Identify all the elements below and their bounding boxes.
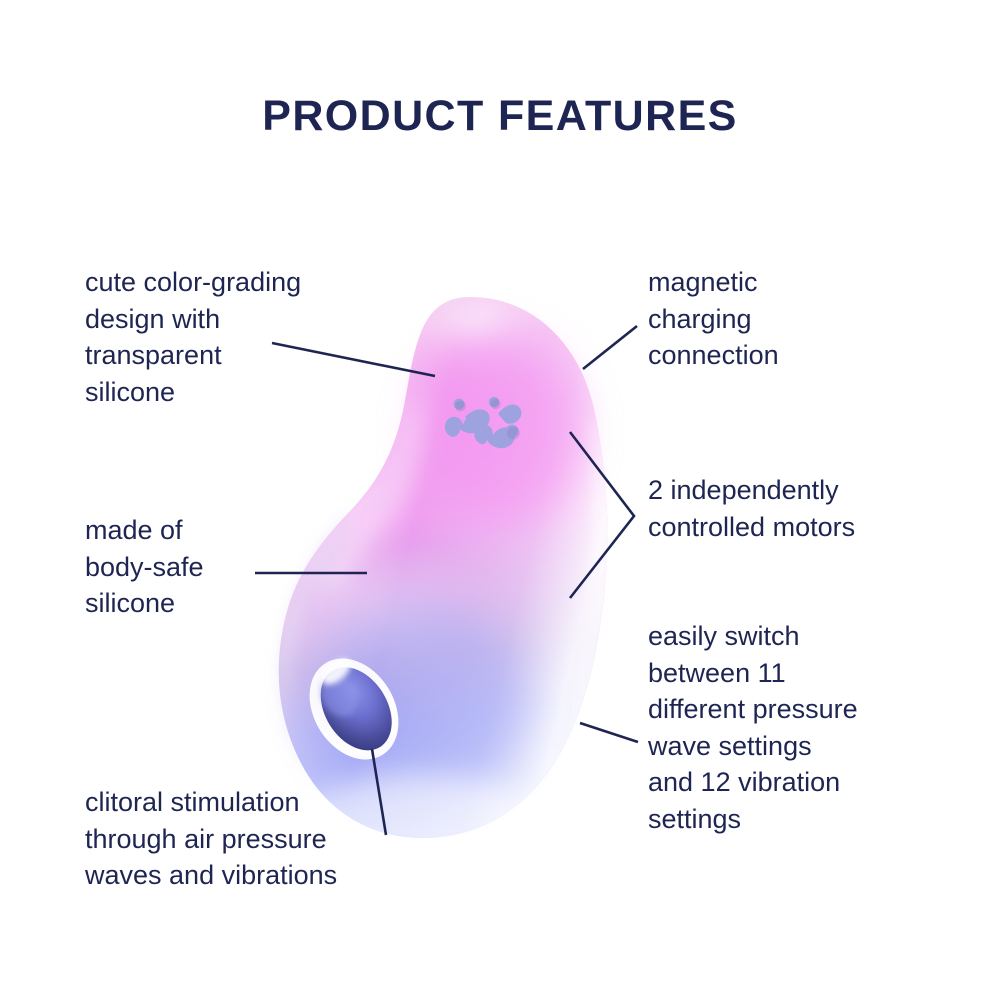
infographic-canvas: PRODUCT FEATURES xyxy=(0,0,1000,1000)
callout-clitoral-stimulation: clitoral stimulation through air pressur… xyxy=(85,784,415,894)
callout-pressure-and-vibration-settings: easily switch between 11 different press… xyxy=(648,618,948,837)
opening-aperture xyxy=(306,654,406,763)
satisfyer-logo-icon xyxy=(445,397,522,448)
callout-color-grading-design: cute color-grading design with transpare… xyxy=(85,264,385,410)
opening-inner-sheen xyxy=(313,668,365,723)
right-edge-highlight xyxy=(566,420,606,742)
top-gloss-highlight xyxy=(415,300,559,396)
callout-magnetic-charging: magnetic charging connection xyxy=(648,264,938,374)
callout-body-safe-silicone: made of body-safe silicone xyxy=(85,512,355,622)
suction-opening xyxy=(291,642,416,776)
callout-two-motors: 2 independently controlled motors xyxy=(648,472,948,545)
pink-core-glow xyxy=(422,340,578,524)
opening-ring-shade xyxy=(291,642,416,776)
opening-outer-ring xyxy=(291,642,416,776)
bulb-periwinkle-tint xyxy=(312,604,528,796)
opening-specular xyxy=(317,654,355,689)
